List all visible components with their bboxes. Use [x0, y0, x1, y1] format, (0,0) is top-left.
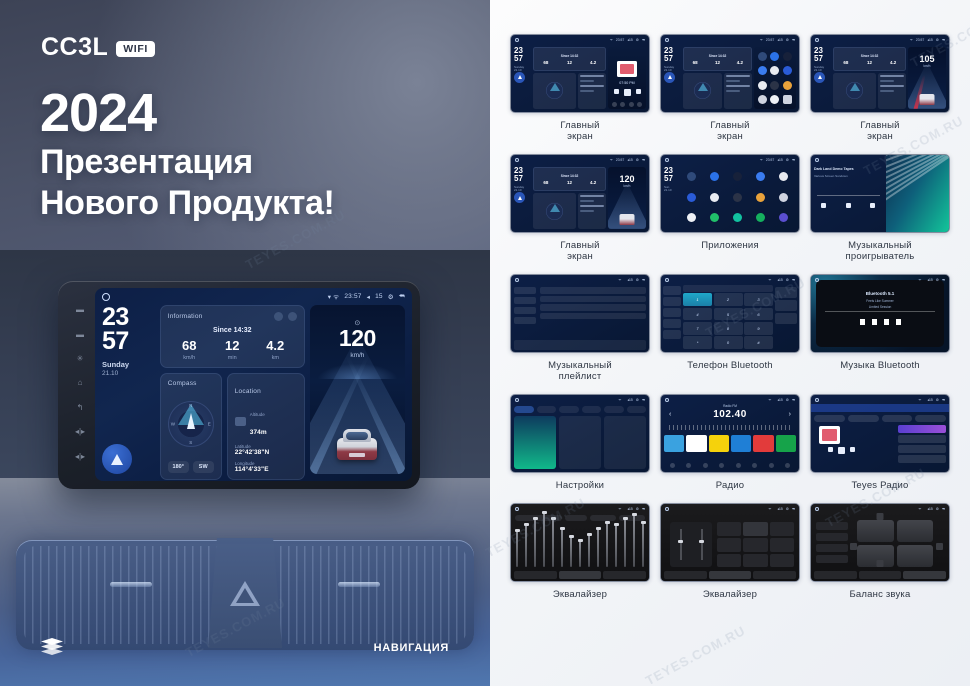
screenshot-cell[interactable]: ᯤ◂15⚙⮪Bluetooth 5.1Feels Like SummerLimi… — [810, 274, 950, 382]
app-icon[interactable] — [770, 81, 779, 90]
screenshot-cell[interactable]: ᯤ23:57◂15⚙⮪2357Sunday21.10Since 14:32681… — [510, 154, 650, 262]
road-view-widget[interactable]: 105km/h — [908, 47, 946, 109]
layers-icon — [41, 638, 63, 658]
app-icon[interactable] — [770, 95, 779, 104]
app-icon[interactable] — [710, 193, 719, 202]
screenshot-caption: Эквалайзер — [553, 589, 607, 600]
app-icon[interactable] — [733, 213, 742, 222]
since-label: Since 14:32 — [168, 327, 297, 334]
gear-key-icon[interactable]: ✳ — [77, 355, 84, 363]
balance-left-icon[interactable] — [850, 543, 857, 550]
favorite-icon — [775, 287, 797, 298]
eq-tabs[interactable] — [514, 571, 646, 579]
screenshot-thumbnail[interactable]: ᯤ◂15⚙⮪ — [810, 503, 950, 582]
eq-slider[interactable] — [615, 523, 617, 567]
back-arrow-icon: ⮪ — [792, 507, 795, 511]
clock-widget: 23 57 Sunday 21.10 — [102, 305, 155, 474]
screenshot-cell[interactable]: ᯤ◂15⚙⮪Настройки — [510, 394, 650, 491]
app-icon[interactable] — [756, 213, 765, 222]
compass-dial — [546, 82, 563, 99]
balance-right-icon[interactable] — [936, 543, 943, 550]
speaker-rl — [857, 545, 894, 567]
screenshot-thumbnail[interactable]: ᯤ23:57◂15⚙⮪2357Sunday21.10Since 14:32681… — [810, 34, 950, 113]
eq-slider[interactable] — [543, 511, 545, 567]
app-icon[interactable] — [733, 193, 742, 202]
app-icon[interactable] — [687, 193, 696, 202]
eq-slider[interactable] — [597, 527, 599, 567]
status-time: 23:57 — [344, 293, 361, 300]
screenshot-caption: Настройки — [556, 480, 604, 491]
dial-key[interactable]: 7 — [683, 322, 712, 335]
since-label: Since 14:32 — [561, 174, 579, 178]
next-station-icon[interactable]: › — [789, 411, 791, 418]
compass-card[interactable] — [833, 73, 876, 109]
screenshot-cell[interactable]: ᯤ23:57◂15⚙⮪2357Sunday21.10Since 14:32681… — [810, 34, 950, 142]
app-icon[interactable] — [756, 193, 765, 202]
eq-slider[interactable] — [516, 529, 518, 567]
location-card[interactable]: Location Altitude 374m Latitude — [227, 373, 305, 480]
apps-widget[interactable] — [754, 47, 796, 109]
navigation-arrow-icon[interactable] — [814, 72, 825, 83]
tab-balance — [603, 571, 646, 579]
trip-stats: 68124.2 — [534, 180, 605, 185]
back-arrow-icon: ⮪ — [642, 507, 645, 511]
stop-icon[interactable] — [838, 447, 845, 454]
dial-key[interactable]: 4 — [683, 308, 712, 321]
prev-icon[interactable] — [828, 447, 833, 452]
station-preset[interactable] — [686, 435, 706, 452]
home-circle-icon[interactable] — [815, 38, 819, 42]
compass-card[interactable] — [533, 73, 576, 109]
app-icon[interactable] — [779, 213, 788, 222]
wifi-badge: WIFI — [116, 41, 155, 57]
app-icon[interactable] — [733, 172, 742, 181]
screenshot-cell[interactable]: ᯤ◂15⚙⮪123456789*0#Телефон Bluetooth — [660, 274, 800, 382]
compass-label-w: W — [171, 422, 175, 427]
home-key-icon[interactable]: ⌂ — [78, 379, 83, 387]
power-key-icon[interactable]: ▬ — [76, 306, 84, 314]
home-circle-icon[interactable] — [515, 278, 519, 282]
screenshot-thumbnail[interactable]: ᯤ◂15⚙⮪ — [810, 394, 950, 473]
player-time: 07:50 PM — [608, 81, 646, 85]
tab-system — [582, 406, 602, 413]
location-card[interactable] — [724, 73, 752, 109]
location-card[interactable] — [578, 73, 606, 109]
screenshot-cell[interactable]: ᯤ◂15⚙⮪Teyes Радио — [810, 394, 950, 491]
clock-date: Sunday21.10 — [514, 186, 531, 192]
dial-key[interactable]: * — [683, 336, 712, 349]
compass-direction: SW — [193, 461, 214, 473]
app-icon[interactable] — [770, 66, 779, 75]
back-key-icon[interactable]: ↰ — [77, 404, 84, 412]
volume-icon: ◂15 — [777, 38, 782, 42]
station-preset[interactable] — [709, 435, 729, 452]
volume-icon: ◂15 — [927, 278, 932, 282]
settings-tabs[interactable] — [514, 406, 646, 413]
next-icon[interactable] — [870, 203, 875, 208]
app-icon[interactable] — [779, 172, 788, 181]
app-icon[interactable] — [687, 213, 696, 222]
screenshot-thumbnail[interactable]: ᯤ23:57◂15⚙⮪2357Sunday21.10Since 14:32681… — [510, 154, 650, 233]
screenshot-thumbnail[interactable]: ᯤ◂15⚙⮪ — [510, 394, 650, 473]
wifi-icon: ᯤ — [618, 277, 621, 282]
home-circle-icon[interactable] — [665, 398, 669, 402]
volume-icon: ◂15 — [777, 158, 782, 162]
play-pause-icon[interactable] — [872, 319, 877, 325]
stop-icon[interactable] — [624, 89, 631, 96]
speaker-fr — [897, 520, 934, 542]
compass-title: Compass — [168, 380, 214, 387]
stat-speed-value: 68 — [168, 339, 211, 352]
volume-icon: ◂15 — [627, 278, 632, 282]
stat-value: 68 — [834, 60, 858, 65]
mute-key-icon[interactable]: ▬ — [76, 331, 84, 339]
status-time: 23:57 — [616, 158, 625, 162]
clock-date: 21.10 — [102, 370, 155, 377]
teyes-tabs[interactable] — [814, 415, 946, 422]
road-view-widget[interactable]: 120km/h — [608, 167, 646, 229]
mountain-icon — [235, 417, 246, 426]
clock-date: Sunday21.10 — [664, 66, 681, 72]
screenshot-cell[interactable]: ᯤ◂15⚙⮪Эквалайзер — [660, 503, 800, 600]
station-presets[interactable] — [664, 435, 796, 452]
volume-down-key-icon[interactable]: ◂|▸ — [75, 428, 85, 436]
wifi-icon: ᯤ — [918, 397, 921, 402]
screenshot-caption: Музыкальныйплейлист — [548, 360, 612, 382]
app-icon[interactable] — [758, 52, 767, 61]
widgets-column: Since 14:3268124.2 — [533, 47, 606, 109]
number-display — [683, 285, 773, 292]
more-card — [604, 416, 646, 469]
screenshot-thumbnail[interactable]: ᯤ◂15⚙⮪Dark Land Demo TapesVarious Screen… — [810, 154, 950, 233]
since-label: Since 14:32 — [709, 54, 727, 58]
navigation-arrow-icon[interactable] — [514, 192, 525, 203]
dial-key[interactable]: 2 — [714, 293, 743, 306]
head-unit-screen[interactable]: ▾ ᯤ 23:57 ◂ 15 ⚙ ⮪ 23 57 Sunday 21.10 — [95, 288, 412, 481]
phone-actions[interactable] — [775, 287, 797, 349]
back-arrow-icon[interactable]: ⮪ — [399, 293, 405, 301]
volume-icon: ◂15 — [627, 398, 632, 402]
home-circle-icon[interactable] — [515, 158, 519, 162]
back-arrow-icon: ⮪ — [792, 398, 795, 402]
eq-slider[interactable] — [570, 535, 572, 567]
gear-icon: ⚙ — [786, 507, 789, 511]
navigation-arrow-icon[interactable] — [664, 72, 675, 83]
album-art — [819, 426, 840, 444]
station-preset[interactable] — [753, 435, 773, 452]
screenshot-thumbnail[interactable]: ᯤ◂15⚙⮪ — [660, 503, 800, 582]
volume-level: 15 — [375, 293, 383, 300]
app-icon[interactable] — [783, 81, 792, 90]
screenshot-cell[interactable]: ᯤ23:57◂15⚙⮪2357Sunday21.10Since 14:32681… — [510, 34, 650, 142]
home-circle-icon[interactable] — [815, 278, 819, 282]
back-arrow-icon: ⮪ — [642, 158, 645, 162]
compass-card[interactable] — [683, 73, 722, 109]
hero-title-line2: Нового Продукта! — [40, 183, 334, 224]
eq-slider[interactable] — [606, 521, 608, 567]
location-card[interactable] — [578, 193, 606, 229]
prev-icon[interactable] — [614, 89, 619, 94]
eq-sliders[interactable] — [670, 522, 712, 567]
volume-icon: ◂ — [367, 293, 370, 301]
apps-grid[interactable] — [678, 164, 797, 230]
play-pause-icon[interactable] — [846, 203, 851, 208]
wifi-icon: ᯤ — [618, 397, 621, 402]
page-title: 2024 Презентация Нового Продукта! — [40, 84, 334, 224]
next-icon[interactable] — [636, 89, 641, 94]
home-circle-icon[interactable] — [665, 278, 669, 282]
eq-presets[interactable] — [717, 522, 794, 567]
app-icon[interactable] — [779, 193, 788, 202]
station-preset[interactable] — [731, 435, 751, 452]
altitude-value: 374m — [250, 429, 267, 436]
screenshot-thumbnail[interactable]: ᯤ◂15⚙⮪Bluetooth 5.1Feels Like SummerLimi… — [810, 274, 950, 353]
screenshot-thumbnail[interactable]: ᯤ◂15⚙⮪Radio FM102.40‹› — [660, 394, 800, 473]
app-icon[interactable] — [783, 52, 792, 61]
compass-heading: 180° — [168, 461, 189, 473]
eq-slider[interactable] — [561, 527, 563, 567]
speed-icon: ⊙ — [310, 319, 405, 327]
wifi-icon: ᯤ — [618, 506, 621, 511]
expand-icon[interactable] — [288, 312, 297, 321]
dial-key[interactable]: 5 — [714, 308, 743, 321]
wifi-icon: ▾ ᯤ — [328, 292, 340, 301]
eq-slider[interactable] — [642, 521, 644, 567]
wifi-card — [514, 416, 556, 469]
car-3d-model — [920, 94, 935, 105]
next-icon[interactable] — [850, 447, 855, 452]
playback-bar[interactable] — [514, 340, 646, 350]
balance-pad[interactable] — [857, 520, 933, 567]
eq-slider[interactable] — [552, 517, 554, 567]
visualizer — [886, 155, 949, 232]
speed-value: 105km/h — [908, 54, 946, 68]
stop-icon[interactable] — [884, 319, 889, 325]
volume-icon: ◂15 — [627, 158, 632, 162]
latitude-value: 22°42'38"N — [235, 449, 297, 456]
app-icon[interactable] — [758, 81, 767, 90]
tab-balance — [753, 571, 796, 579]
tab-display — [559, 406, 579, 413]
screenshot-cell[interactable]: ᯤ◂15⚙⮪Эквалайзер — [510, 503, 650, 600]
status-bar: ᯤ◂15⚙⮪ — [661, 395, 799, 404]
navigation-arrow-icon[interactable] — [102, 444, 132, 474]
volume-icon: ◂15 — [627, 507, 632, 511]
screenshot-cell[interactable]: ᯤ◂15⚙⮪Radio FM102.40‹›Радио — [660, 394, 800, 491]
information-card[interactable]: Since 14:3268124.2 — [833, 47, 906, 71]
stat-time-unit: min — [211, 355, 254, 361]
screenshot-cell[interactable]: ᯤ23:57◂15⚙⮪2357Sun21.10Приложения — [660, 154, 800, 262]
home-circle-icon[interactable] — [665, 38, 669, 42]
hero-title-line1: Презентация — [40, 142, 334, 183]
status-bar: ᯤ◂15⚙⮪ — [511, 395, 649, 404]
dial-key[interactable]: 3 — [744, 293, 773, 306]
progress-bar — [817, 195, 880, 196]
status-time: 23:57 — [916, 38, 925, 42]
clock-minutes: 57 — [102, 329, 155, 353]
eq-slider[interactable] — [588, 533, 590, 567]
frequency-scale[interactable] — [669, 425, 791, 430]
app-icon[interactable] — [710, 213, 719, 222]
music-widget[interactable]: 07:50 PM — [608, 47, 646, 109]
screenshot-caption: Приложения — [701, 240, 759, 251]
screenshot-thumbnail[interactable]: ᯤ23:57◂15⚙⮪2357Sun21.10 — [660, 154, 800, 233]
location-card[interactable] — [878, 73, 906, 109]
screenshot-cell[interactable]: ᯤ◂15⚙⮪Музыкальныйплейлист — [510, 274, 650, 382]
eq-tabs[interactable] — [664, 571, 796, 579]
eq-slider[interactable] — [534, 517, 536, 567]
home-circle-icon[interactable] — [102, 293, 110, 301]
stat-speed: 68 km/h — [168, 339, 211, 361]
trip-stats: 68 km/h 12 min 4.2 km — [168, 339, 297, 361]
stat-time-value: 12 — [211, 339, 254, 352]
navigation-arrow-icon[interactable] — [514, 72, 525, 83]
next-icon[interactable] — [896, 319, 901, 325]
dial-key[interactable]: 9 — [744, 322, 773, 335]
compass-dial: N E S W — [168, 401, 214, 447]
gear-icon[interactable]: ⚙ — [388, 293, 394, 301]
information-card[interactable]: Since 14:3268124.2 — [533, 47, 606, 71]
vent-marker-right — [338, 582, 380, 587]
screenshot-thumbnail[interactable]: ᯤ◂15⚙⮪123456789*0# — [660, 274, 800, 353]
eq-slider — [680, 529, 682, 560]
tab-mix — [859, 571, 902, 579]
screenshot-cell[interactable]: ᯤ◂15⚙⮪Баланс звука — [810, 503, 950, 600]
home-circle-icon[interactable] — [665, 158, 669, 162]
screenshot-caption: Радио — [716, 480, 744, 491]
home-circle-icon[interactable] — [515, 38, 519, 42]
dial-pad[interactable]: 123456789*0# — [683, 293, 773, 349]
speed-value: 120km/h — [608, 174, 646, 188]
back-arrow-icon: ⮪ — [642, 38, 645, 42]
eq-tabs[interactable] — [814, 571, 946, 579]
eq-slider[interactable] — [579, 539, 581, 567]
app-icon[interactable] — [770, 52, 779, 61]
screenshot-thumbnail[interactable]: ᯤ23:57◂15⚙⮪2357Sunday21.10Since 14:32681… — [660, 34, 800, 113]
playlist-rows[interactable] — [540, 287, 646, 338]
home-circle-icon[interactable] — [515, 507, 519, 511]
status-bar: ᯤ23:57◂15⚙⮪ — [661, 155, 799, 164]
eq-slider[interactable] — [633, 513, 635, 567]
balance-presets[interactable] — [816, 522, 848, 567]
home-circle-icon[interactable] — [665, 507, 669, 511]
balance-down-icon[interactable] — [877, 560, 884, 567]
screenshot-caption: Главныйэкран — [860, 120, 899, 142]
wifi-icon: ᯤ — [768, 277, 771, 282]
phone-sidebar[interactable] — [663, 286, 681, 350]
screenshot-cell[interactable]: ᯤ23:57◂15⚙⮪2357Sunday21.10Since 14:32681… — [660, 34, 800, 142]
station-preset[interactable] — [664, 435, 684, 452]
status-time: 23:57 — [766, 38, 775, 42]
stat-value: 12 — [558, 60, 582, 65]
app-icon[interactable] — [756, 172, 765, 181]
trip-stats: 68124.2 — [534, 60, 605, 65]
app-icon[interactable] — [710, 172, 719, 181]
trip-stats: 68124.2 — [684, 60, 751, 65]
speed-unit: km/h — [908, 64, 946, 68]
stat-value: 68 — [534, 180, 558, 185]
compass-card[interactable]: Compass N E S W — [160, 373, 222, 480]
stat-value: 4.2 — [729, 60, 751, 65]
clock-hours: 23 — [102, 305, 155, 329]
status-bar: ᯤ23:57◂15⚙⮪ — [511, 35, 649, 44]
stat-distance-unit: km — [254, 355, 297, 361]
compass-dial — [694, 82, 711, 99]
screenshot-thumbnail[interactable]: ᯤ23:57◂15⚙⮪2357Sunday21.10Since 14:32681… — [510, 34, 650, 113]
status-bar: ᯤ◂15⚙⮪ — [811, 395, 949, 404]
gear-icon: ⚙ — [786, 398, 789, 402]
app-icon[interactable] — [758, 66, 767, 75]
prev-icon[interactable] — [821, 203, 826, 208]
screenshot-thumbnail[interactable]: ᯤ◂15⚙⮪ — [510, 503, 650, 582]
app-grid-icon[interactable] — [783, 95, 792, 104]
home-circle-icon[interactable] — [515, 398, 519, 402]
settings-cards[interactable] — [514, 416, 646, 469]
refresh-icon[interactable] — [274, 312, 283, 321]
compass-card[interactable] — [533, 193, 576, 229]
speed-value: 120 — [310, 327, 405, 350]
radio-toolbar[interactable] — [664, 463, 796, 470]
dial-key[interactable]: 1 — [683, 293, 712, 306]
longitude-value: 114°4'33"E — [235, 466, 297, 473]
status-bar: ᯤ◂15⚙⮪ — [811, 504, 949, 513]
gear-icon: ⚙ — [636, 398, 639, 402]
status-bar: ▾ ᯤ 23:57 ◂ 15 ⚙ ⮪ — [95, 288, 412, 305]
app-icon[interactable] — [758, 95, 767, 104]
road-view-widget[interactable]: ⊙ 120 km/h — [310, 305, 405, 474]
gear-icon: ⚙ — [636, 278, 639, 282]
tab-eq — [664, 571, 707, 579]
information-card[interactable]: Since 14:3268124.2 — [683, 47, 752, 71]
dial-key[interactable]: 8 — [714, 322, 743, 335]
balance-up-icon[interactable] — [877, 513, 884, 520]
volume-icon: ◂15 — [777, 278, 782, 282]
home-circle-icon[interactable] — [815, 507, 819, 511]
compass-label-e: E — [208, 422, 211, 427]
widgets-column: Since 14:3268124.2 — [683, 47, 752, 109]
compass-label-n: N — [189, 403, 192, 408]
home-screen-body: 23 57 Sunday 21.10 Information — [95, 305, 412, 481]
information-card[interactable]: Information Since 14:32 68 km/h — [160, 305, 305, 368]
dial-key[interactable]: 0 — [714, 336, 743, 349]
side-key-column[interactable]: ▬ ▬ ✳ ⌂ ↰ ◂|▸ ◂|▸ — [65, 288, 95, 481]
hazard-button[interactable] — [208, 538, 282, 648]
eq-slider[interactable] — [624, 517, 626, 567]
eq-slider[interactable] — [525, 523, 527, 567]
footer-label: НАВИГАЦИЯ — [374, 642, 449, 654]
app-icon[interactable] — [687, 172, 696, 181]
prev-station-icon[interactable]: ‹ — [669, 411, 671, 418]
dial-key[interactable]: 6 — [744, 308, 773, 321]
home-circle-icon[interactable] — [815, 158, 819, 162]
status-time: 23:57 — [616, 38, 625, 42]
information-card[interactable]: Since 14:3268124.2 — [533, 167, 606, 191]
app-icon[interactable] — [783, 66, 792, 75]
screenshot-cell[interactable]: ᯤ◂15⚙⮪Dark Land Demo TapesVarious Screen… — [810, 154, 950, 262]
dial-key[interactable]: # — [744, 336, 773, 349]
screenshot-thumbnail[interactable]: ᯤ◂15⚙⮪ — [510, 274, 650, 353]
prev-icon[interactable] — [860, 319, 865, 325]
tab-balance — [903, 571, 946, 579]
station-list[interactable] — [898, 425, 946, 469]
station-preset[interactable] — [776, 435, 796, 452]
eq-band-sliders[interactable] — [516, 520, 644, 567]
status-bar: ᯤ◂15⚙⮪ — [811, 275, 949, 284]
information-title: Information — [168, 313, 203, 320]
home-circle-icon[interactable] — [815, 398, 819, 402]
volume-icon: ◂15 — [777, 507, 782, 511]
volume-up-key-icon[interactable]: ◂|▸ — [75, 453, 85, 461]
